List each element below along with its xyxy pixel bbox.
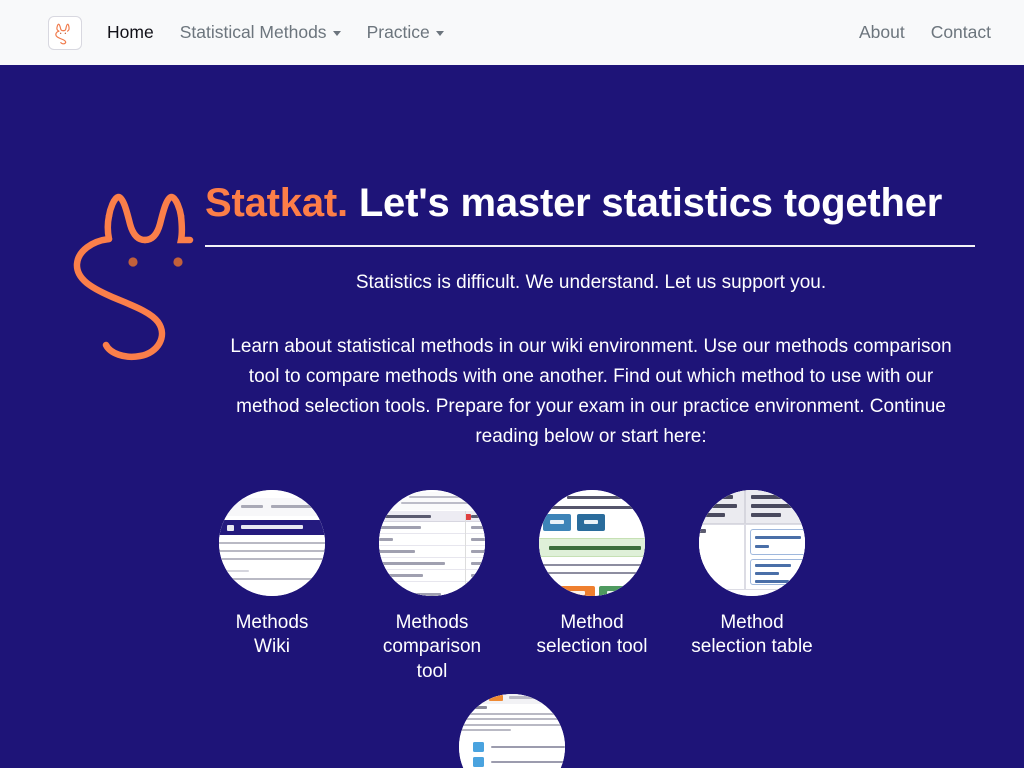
headline-rest: Let's master statistics together	[359, 181, 942, 225]
method-selection-tool-thumbnail[interactable]	[539, 490, 645, 596]
mini-yes-no-buttons	[541, 514, 645, 532]
nav-item-practice-label: Practice	[367, 22, 430, 43]
quick-links-row-2: Practice	[432, 694, 592, 768]
thumbnail-art	[699, 490, 805, 596]
thumbnail-art	[539, 490, 645, 596]
page-title: Statkat. Let's master statistics togethe…	[205, 65, 977, 227]
mini-selection-grid	[699, 490, 805, 590]
hero-content: Statkat. Let's master statistics togethe…	[205, 65, 977, 452]
mini-navbar	[219, 498, 325, 516]
nav-item-statistical-methods-label: Statistical Methods	[180, 22, 327, 43]
card-method-selection-tool-label: Method selection tool	[537, 611, 648, 660]
nav-item-contact[interactable]: Contact	[918, 16, 1004, 49]
mini-toolbar	[383, 492, 485, 510]
nav-item-statistical-methods[interactable]: Statistical Methods	[167, 16, 354, 49]
nav-item-about-label: About	[859, 22, 905, 43]
card-methods-comparison-tool[interactable]: Methods comparison tool	[352, 490, 512, 684]
card-method-selection-table[interactable]: Method selection table	[672, 490, 832, 684]
methods-wiki-thumbnail[interactable]	[219, 490, 325, 596]
mini-toolbar	[459, 694, 565, 704]
primary-nav-links: Home Statistical Methods Practice	[94, 16, 457, 49]
thumbnail-art	[459, 694, 565, 768]
card-method-selection-tool[interactable]: Method selection tool	[512, 490, 672, 684]
mini-comparison-table	[379, 511, 485, 596]
hero-section: Statkat. Let's master statistics togethe…	[0, 65, 1024, 768]
card-methods-comparison-tool-label: Methods comparison tool	[383, 611, 481, 684]
thumbnail-art	[219, 490, 325, 596]
mini-explanation	[541, 564, 645, 580]
mini-page-header	[219, 520, 325, 535]
mini-advice-banner	[539, 538, 645, 557]
secondary-nav-links: About Contact	[846, 16, 1008, 49]
nav-item-about[interactable]: About	[846, 16, 918, 49]
mini-paragraph	[219, 542, 325, 586]
nav-item-contact-label: Contact	[931, 22, 991, 43]
headline-brand: Statkat.	[205, 181, 348, 225]
hero-lead-text: Statistics is difficult. We understand. …	[205, 269, 977, 298]
chevron-down-icon	[333, 31, 341, 36]
practice-thumbnail[interactable]	[459, 694, 565, 768]
method-selection-table-thumbnail[interactable]	[699, 490, 805, 596]
nav-item-home[interactable]: Home	[94, 16, 167, 49]
nav-item-practice[interactable]: Practice	[354, 16, 457, 49]
statkat-cat-logo-icon[interactable]	[48, 16, 82, 50]
mini-answer-options	[459, 742, 565, 768]
nav-item-home-label: Home	[107, 22, 154, 43]
top-navigation-bar: Home Statistical Methods Practice About …	[0, 0, 1024, 65]
thumbnail-art	[379, 490, 485, 596]
card-methods-wiki-label: Methods Wiki	[236, 611, 309, 660]
mini-footer-buttons	[553, 586, 645, 596]
chevron-down-icon	[436, 31, 444, 36]
methods-comparison-tool-thumbnail[interactable]	[379, 490, 485, 596]
quick-links-row-1: Methods Wiki	[192, 490, 832, 684]
hero-body-text: Learn about statistical methods in our w…	[217, 332, 965, 452]
card-methods-wiki[interactable]: Methods Wiki	[192, 490, 352, 684]
card-practice[interactable]: Practice	[432, 694, 592, 768]
mini-question	[459, 706, 565, 735]
card-method-selection-table-label: Method selection table	[691, 611, 812, 660]
title-divider	[205, 245, 975, 247]
